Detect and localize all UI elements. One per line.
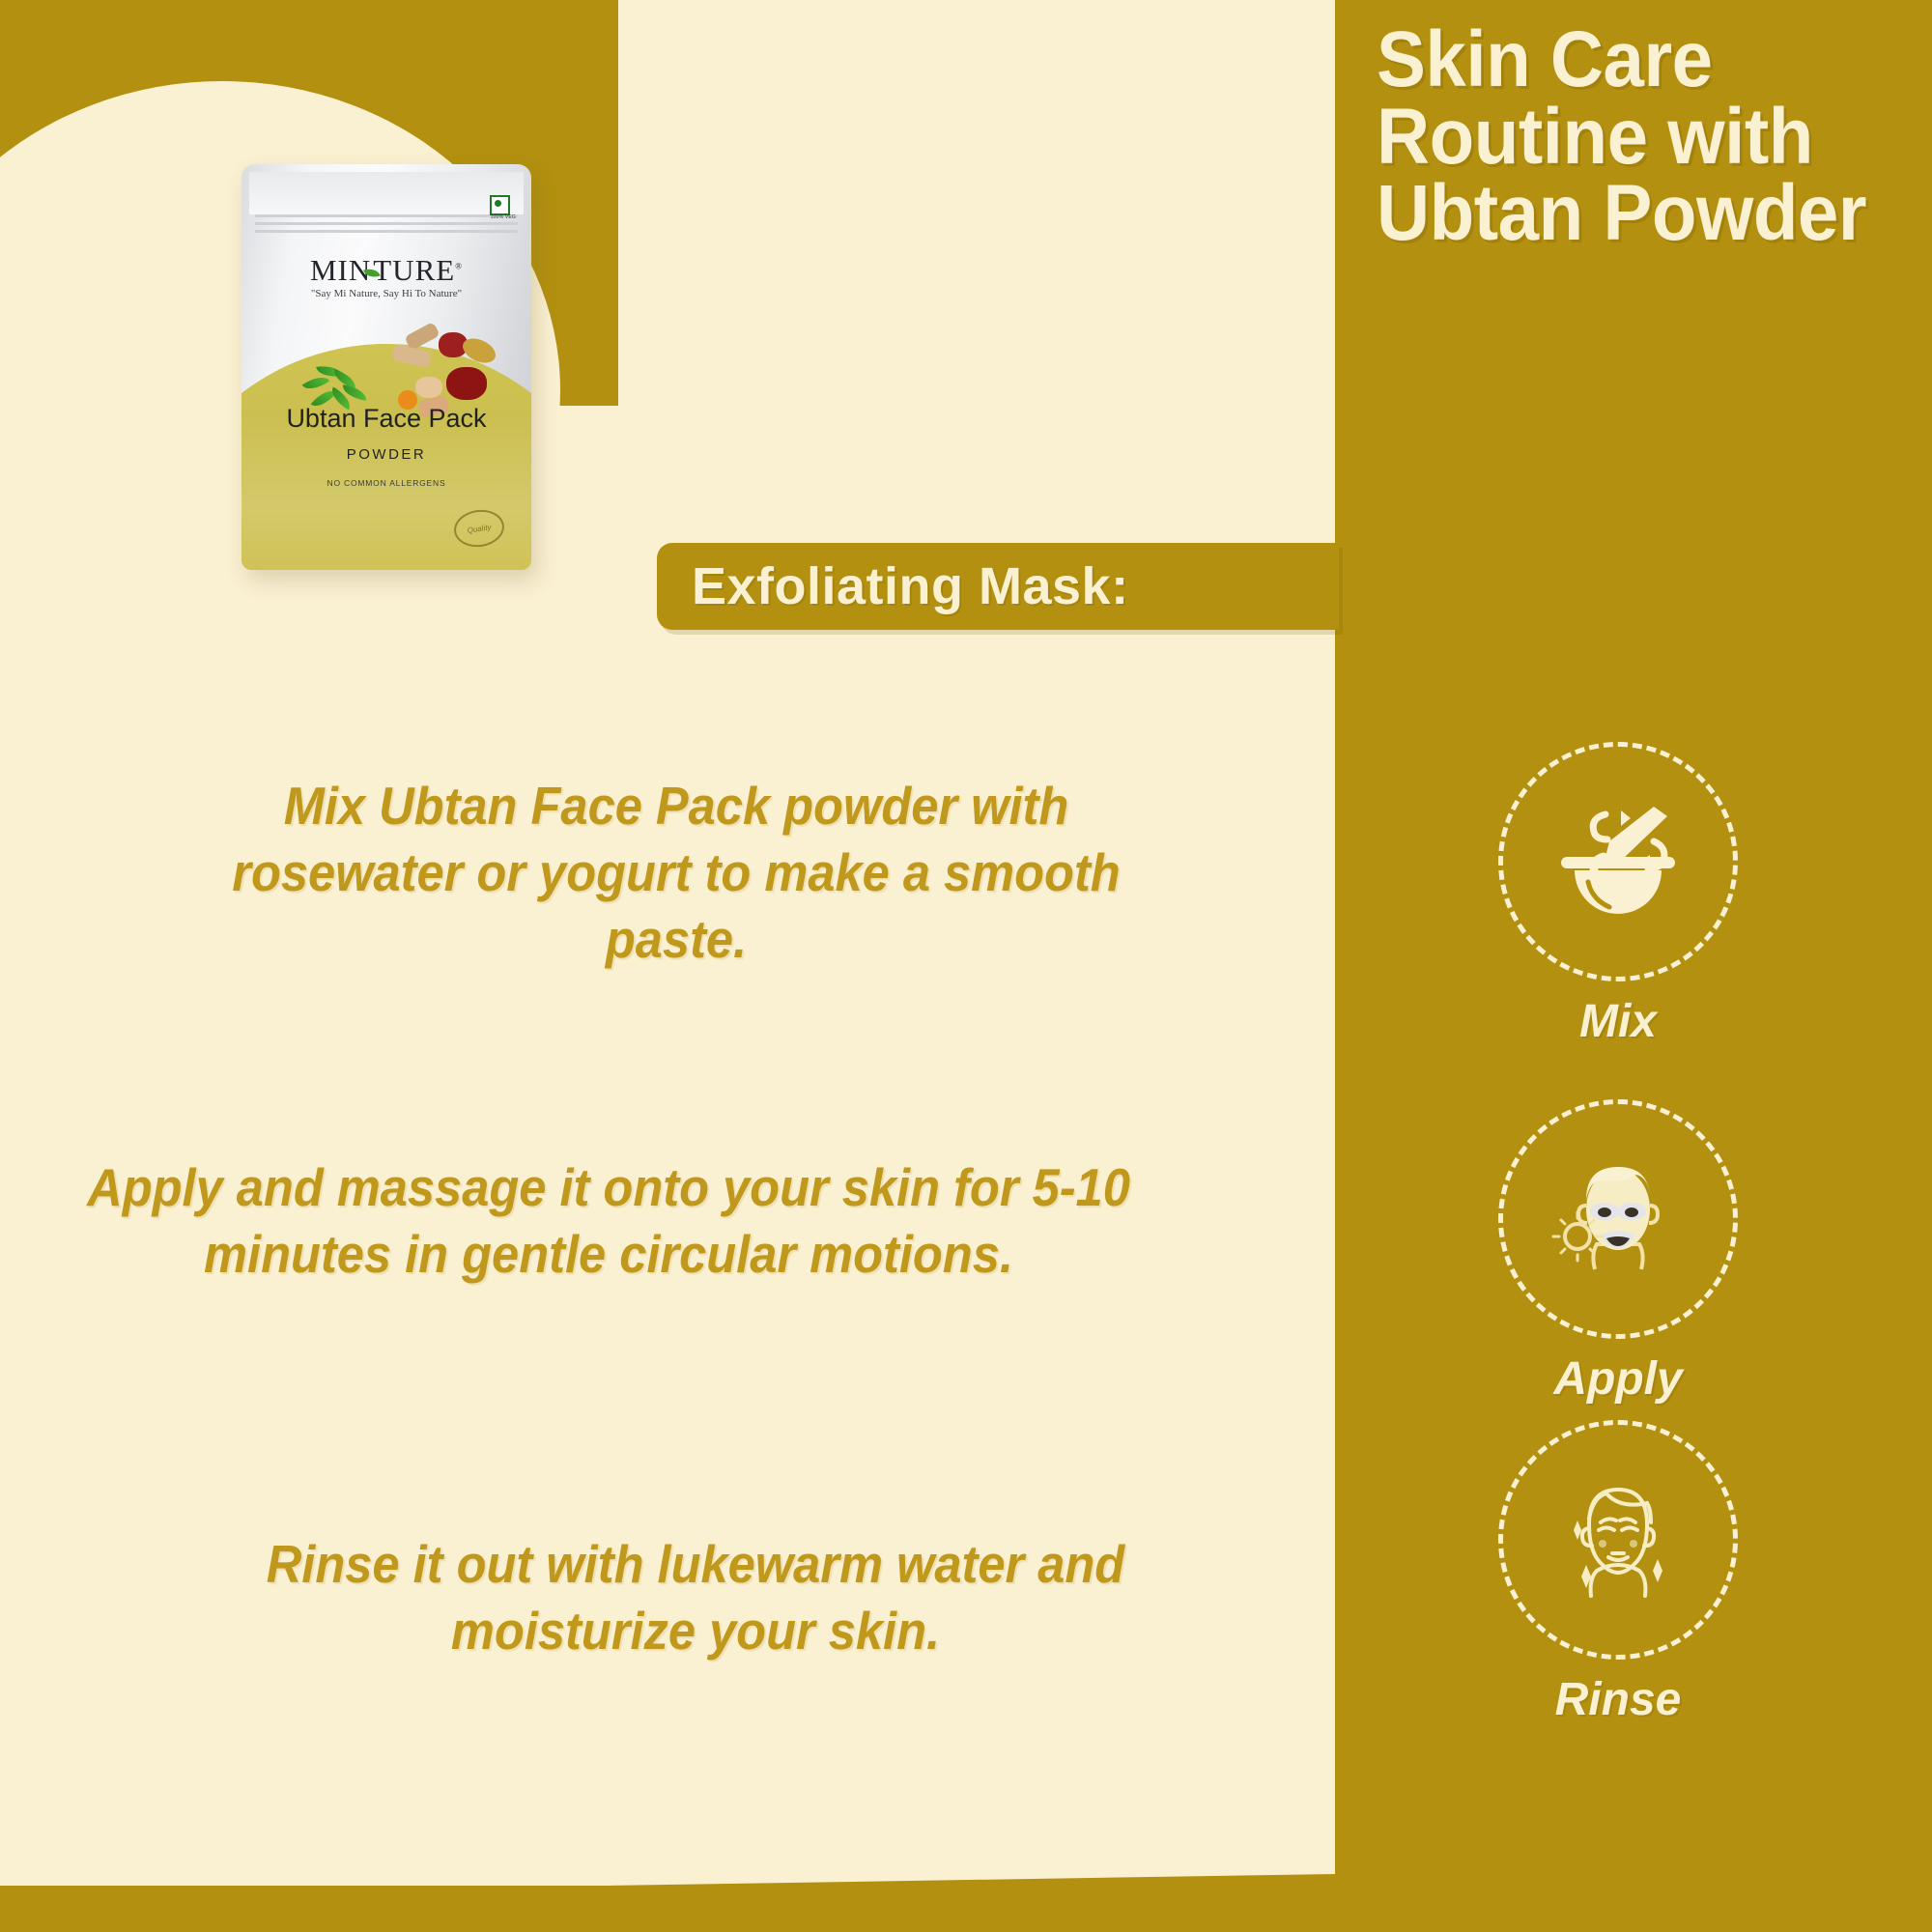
pouch-zipper-line	[255, 214, 518, 217]
clean-face-rinse-icon	[1541, 1463, 1695, 1617]
product-name: Ubtan Face Pack	[241, 404, 531, 434]
registered-mark: ®	[455, 262, 463, 271]
banner-label: Exfoliating Mask:	[692, 556, 1129, 616]
icon-label-apply: Apply	[1478, 1352, 1758, 1406]
icon-block-mix: Mix	[1478, 742, 1758, 1048]
dashed-circle-frame	[1498, 1099, 1738, 1339]
icon-label-rinse: Rinse	[1478, 1673, 1758, 1726]
allergen-note: NO COMMON ALLERGENS	[241, 478, 531, 488]
product-image: 100% VEG MINTURE® "Say Mi Nature, Say Hi…	[241, 164, 551, 570]
product-pouch: 100% VEG MINTURE® "Say Mi Nature, Say Hi…	[241, 164, 531, 570]
exfoliating-mask-banner: Exfoliating Mask:	[657, 543, 1339, 630]
vegetarian-mark-icon	[490, 195, 510, 215]
dried-rose	[446, 367, 487, 400]
brand-tagline: "Say Mi Nature, Say Hi To Nature"	[241, 288, 531, 299]
page-title: Skin Care Routine with Ubtan Powder	[1377, 21, 1880, 252]
sparkle	[1653, 1559, 1662, 1582]
icon-block-rinse: Rinse	[1478, 1420, 1758, 1726]
mortar-pestle-mix-icon	[1546, 789, 1690, 934]
vegetarian-caption: 100% VEG	[491, 214, 516, 220]
product-form: POWDER	[241, 446, 531, 463]
sandalwood-chip	[415, 377, 442, 398]
sparkle	[1574, 1520, 1581, 1540]
step-text-mix: Mix Ubtan Face Pack powder with rosewate…	[205, 773, 1147, 972]
brand-name-first: MI	[310, 253, 349, 287]
dashed-circle-frame	[1498, 742, 1738, 981]
pouch-zipper-line	[255, 222, 518, 225]
step-text-rinse: Rinse it out with lukewarm water and moi…	[234, 1531, 1158, 1664]
brand-logo: MINTURE®	[241, 253, 531, 288]
pouch-zipper-line	[255, 230, 518, 233]
step-text-apply: Apply and massage it onto your skin for …	[75, 1154, 1142, 1288]
icon-block-apply: Apply	[1478, 1099, 1758, 1406]
icon-label-mix: Mix	[1478, 995, 1758, 1048]
dashed-circle-frame	[1498, 1420, 1738, 1660]
pouch-top-seal	[249, 172, 524, 214]
ginger-root	[391, 343, 433, 368]
face-mask-apply-icon	[1541, 1142, 1695, 1296]
brand-name-rest: TURE	[373, 253, 455, 287]
